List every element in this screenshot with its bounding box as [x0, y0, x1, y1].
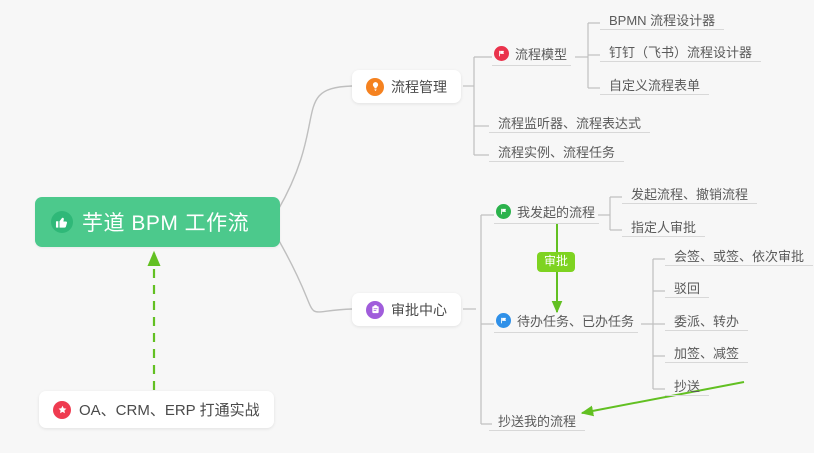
leaf-bpmn-designer[interactable]: BPMN 流程设计器 [600, 7, 724, 30]
arrow-label-approve: 审批 [537, 252, 575, 272]
node-label: 我发起的流程 [517, 202, 595, 221]
leaf-process-instance[interactable]: 流程实例、流程任务 [489, 139, 624, 162]
leaf-assignee-approval[interactable]: 指定人审批 [622, 214, 705, 237]
leaf-label: 抄送我的流程 [498, 415, 576, 428]
thumbs-up-icon [51, 211, 73, 233]
leaf-cc[interactable]: 抄送 [665, 373, 709, 396]
leaf-label: 自定义流程表单 [609, 79, 700, 92]
root-label: 芋道 BPM 工作流 [82, 207, 249, 237]
lightbulb-pin-icon [366, 78, 384, 96]
leaf-label: 加签、减签 [674, 347, 739, 360]
leaf-label: 发起流程、撤销流程 [631, 188, 748, 201]
leaf-process-listener[interactable]: 流程监听器、流程表达式 [489, 110, 650, 133]
leaf-label: 抄送 [674, 380, 700, 393]
leaf-add-remove-sign[interactable]: 加签、减签 [665, 340, 748, 363]
connector-root-to-process-management [278, 86, 352, 210]
branch-node-approval-center[interactable]: 审批中心 [352, 293, 461, 326]
leaf-countersign[interactable]: 会签、或签、依次审批 [665, 243, 813, 266]
leaf-cc-to-me[interactable]: 抄送我的流程 [489, 408, 585, 431]
leaf-label: 委派、转办 [674, 315, 739, 328]
leaf-label: 流程实例、流程任务 [498, 146, 615, 159]
leaf-start-cancel-flow[interactable]: 发起流程、撤销流程 [622, 181, 757, 204]
leaf-label: 会签、或签、依次审批 [674, 250, 804, 263]
node-process-model[interactable]: 流程模型 [492, 44, 571, 66]
flag-icon [494, 46, 509, 61]
flag-icon [496, 313, 511, 328]
leaf-label: BPMN 流程设计器 [609, 14, 715, 27]
leaf-delegate-transfer[interactable]: 委派、转办 [665, 308, 748, 331]
leaf-dingtalk-designer[interactable]: 钉钉（飞书）流程设计器 [600, 39, 761, 62]
star-icon [53, 401, 71, 419]
connector-root-to-approval-center [278, 239, 352, 312]
root-node[interactable]: 芋道 BPM 工作流 [35, 197, 280, 247]
note-node-integration[interactable]: OA、CRM、ERP 打通实战 [39, 391, 274, 428]
arrow-cc-to-cc-mine [582, 382, 744, 413]
leaf-label: 指定人审批 [631, 221, 696, 234]
note-label: OA、CRM、ERP 打通实战 [79, 399, 260, 420]
node-label: 待办任务、已办任务 [517, 311, 634, 330]
branch-node-process-management[interactable]: 流程管理 [352, 70, 461, 103]
leaf-reject[interactable]: 驳回 [665, 275, 709, 298]
branch-label: 审批中心 [391, 300, 447, 320]
leaf-label: 流程监听器、流程表达式 [498, 117, 641, 130]
mindmap-canvas: 芋道 BPM 工作流 流程管理 审批中心 [0, 0, 814, 453]
node-todo-done-tasks[interactable]: 待办任务、已办任务 [494, 311, 638, 333]
leaf-custom-form[interactable]: 自定义流程表单 [600, 72, 709, 95]
node-my-started-flows[interactable]: 我发起的流程 [494, 202, 599, 224]
leaf-label: 驳回 [674, 282, 700, 295]
branch-label: 流程管理 [391, 77, 447, 97]
clipboard-icon [366, 301, 384, 319]
flag-icon [496, 204, 511, 219]
node-label: 流程模型 [515, 44, 567, 63]
leaf-label: 钉钉（飞书）流程设计器 [609, 46, 752, 59]
